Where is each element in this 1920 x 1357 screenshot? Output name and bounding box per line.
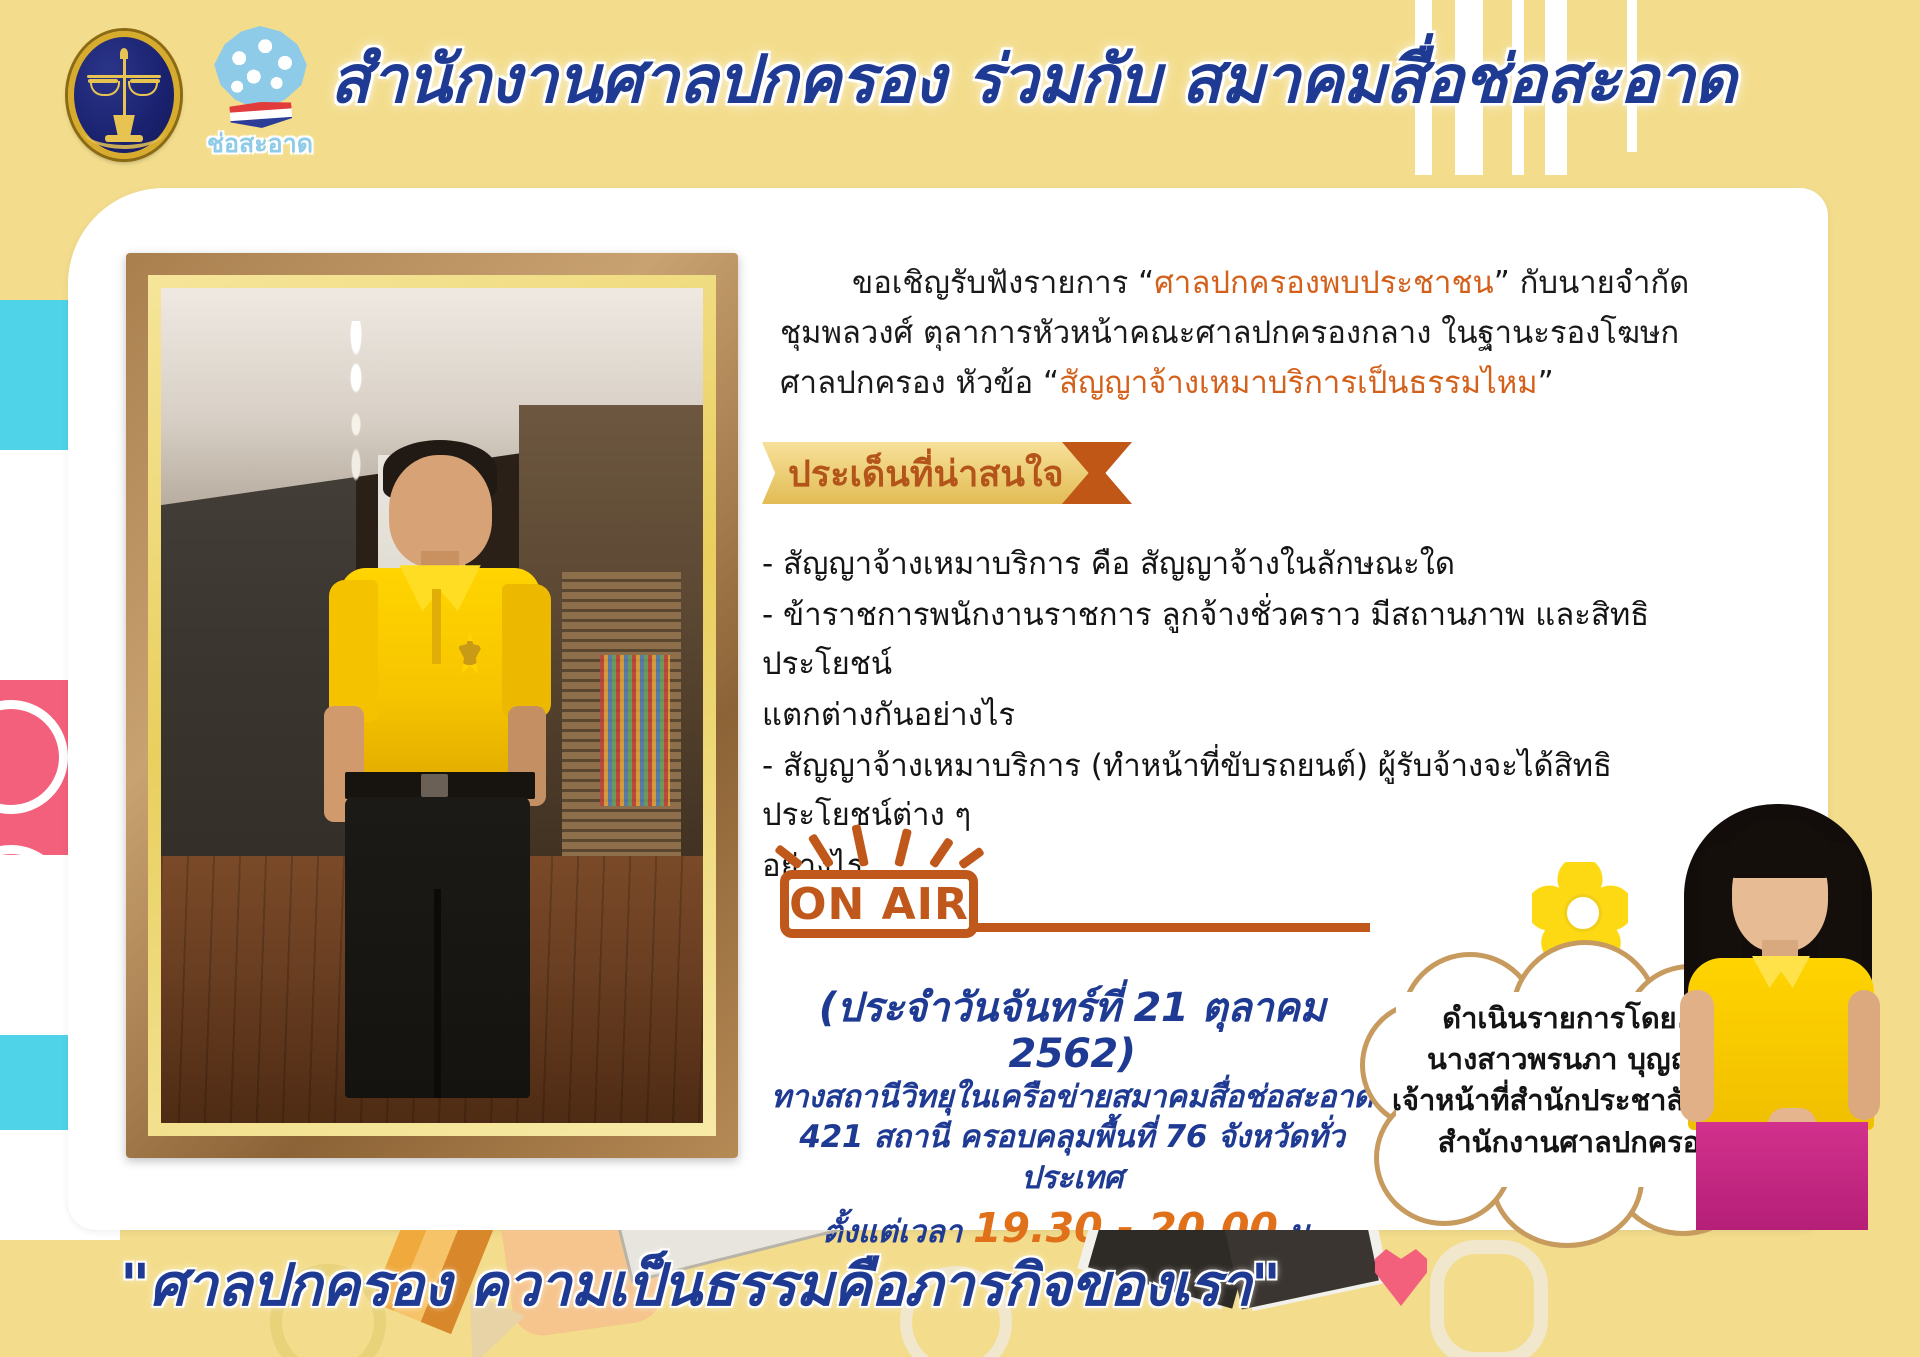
chor-sa-ard-logo-icon: ช่อสะอาด xyxy=(200,26,320,158)
photo-image xyxy=(161,288,703,1123)
broadcast-date: (ประจำวันจันทร์ที่ 21 ตุลาคม 2562) xyxy=(762,985,1382,1077)
episode-topic: สัญญาจ้างเหมาบริการเป็นธรรมไหม xyxy=(1059,365,1537,401)
guest-photo xyxy=(126,253,738,1158)
list-item: - สัญญาจ้างเหมาบริการ คือ สัญญาจ้างในลัก… xyxy=(762,540,1722,589)
presenter-photo xyxy=(1640,790,1920,1230)
chor-sa-ard-logo-label: ช่อสะอาด xyxy=(200,124,320,164)
list-item: แตกต่างกันอย่างไร xyxy=(762,691,1722,740)
page-title: สำนักงานศาลปกครอง ร่วมกับ สมาคมสื่อช่อสะ… xyxy=(330,40,1420,121)
intro-part-1: ขอเชิญรับฟังรายการ “ xyxy=(852,265,1154,301)
on-air-badge: ON AIR xyxy=(770,818,1370,948)
footer-slogan: "ศาลปกครอง ความเป็นธรรมคือภารกิจของเรา" xyxy=(0,1238,1400,1331)
on-air-rays-icon xyxy=(794,818,969,866)
broadcast-info: (ประจำวันจันทร์ที่ 21 ตุลาคม 2562) ทางสถ… xyxy=(762,985,1382,1257)
intro-paragraph: ขอเชิญรับฟังรายการ “ศาลปกครองพบประชาชน” … xyxy=(780,258,1720,409)
poster-header: ช่อสะอาด สำนักงานศาลปกครอง ร่วมกับ สมาคม… xyxy=(0,0,1920,175)
highlights-banner: ประเด็นที่น่าสนใจ xyxy=(762,442,1142,504)
administrative-court-seal-icon xyxy=(68,31,180,159)
banner-label: ประเด็นที่น่าสนใจ xyxy=(788,444,1088,502)
on-air-baseline xyxy=(970,923,1370,932)
broadcast-network: ทางสถานีวิทยุในเครือข่ายสมาคมสื่อช่อสะอา… xyxy=(762,1077,1382,1117)
list-item: - ข้าราชการพนักงานราชการ ลูกจ้างชั่วคราว… xyxy=(762,591,1722,689)
broadcast-coverage: 421 สถานี ครอบคลุมพื้นที่ 76 จังหวัดทั่ว… xyxy=(762,1117,1382,1198)
poster-canvas: ช่อสะอาด สำนักงานศาลปกครอง ร่วมกับ สมาคม… xyxy=(0,0,1920,1357)
on-air-label: ON AIR xyxy=(780,870,978,938)
program-name: ศาลปกครองพบประชาชน xyxy=(1154,265,1493,301)
intro-part-3: ” xyxy=(1538,365,1554,401)
